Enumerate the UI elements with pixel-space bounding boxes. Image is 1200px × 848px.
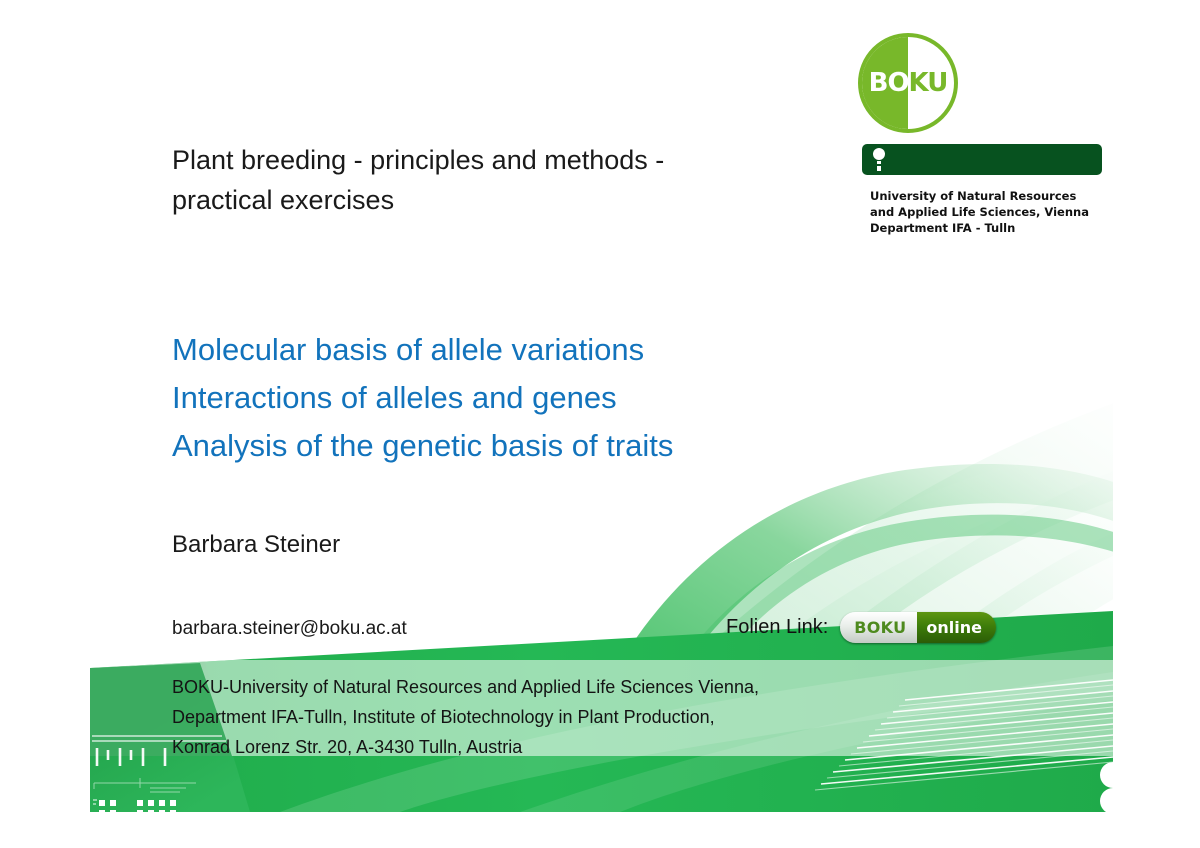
course-title-line-1: Plant breeding - principles and methods … bbox=[172, 140, 812, 180]
lecture-topic-3: Analysis of the genetic basis of traits bbox=[172, 422, 872, 470]
boku-logo-block: BOKU bbox=[858, 33, 1098, 133]
logo-wordmark-ku: KU bbox=[909, 70, 948, 96]
author-email[interactable]: barbara.steiner@boku.ac.at bbox=[172, 618, 407, 640]
boku-circle-logo-icon: BOKU bbox=[858, 33, 958, 133]
course-title: Plant breeding - principles and methods … bbox=[172, 140, 812, 220]
tree-trunk-gap-shape bbox=[877, 164, 881, 166]
university-name-block: University of Natural Resources and Appl… bbox=[870, 188, 1130, 236]
university-green-bar bbox=[862, 144, 1102, 175]
logo-wordmark: BOKU bbox=[858, 33, 958, 133]
tree-crown-shape bbox=[873, 148, 885, 160]
boku-online-button[interactable]: BOKU online bbox=[840, 612, 996, 643]
course-title-line-2: practical exercises bbox=[172, 180, 812, 220]
slide-title-full: Plant breeding - principles and methods … bbox=[0, 0, 1, 1]
presentation-title-slide: BOKU University of Natural Resources and… bbox=[0, 0, 1200, 848]
university-line-3: Department IFA - Tulln bbox=[870, 220, 1130, 236]
address-line-3: Konrad Lorenz Str. 20, A-3430 Tulln, Aus… bbox=[172, 732, 972, 762]
tree-trunk-shape bbox=[877, 161, 881, 171]
logo-wordmark-bo: BO bbox=[869, 70, 909, 96]
boku-online-button-right-label: online bbox=[917, 612, 996, 643]
lecture-topic-1: Molecular basis of allele variations bbox=[172, 326, 872, 374]
lecture-topics: Molecular basis of allele variations Int… bbox=[172, 326, 872, 470]
institution-address: BOKU-University of Natural Resources and… bbox=[172, 672, 972, 762]
lecture-topic-2: Interactions of alleles and genes bbox=[172, 374, 872, 422]
boku-online-button-left-label: BOKU bbox=[840, 612, 917, 643]
author-name: Barbara Steiner bbox=[172, 531, 340, 559]
slides-link-label: Folien Link: bbox=[726, 616, 828, 639]
address-line-2: Department IFA-Tulln, Institute of Biote… bbox=[172, 702, 972, 732]
slides-link-row: Folien Link: BOKU online bbox=[726, 612, 996, 643]
university-line-1: University of Natural Resources bbox=[870, 188, 1130, 204]
university-line-2: and Applied Life Sciences, Vienna bbox=[870, 204, 1130, 220]
address-line-1: BOKU-University of Natural Resources and… bbox=[172, 672, 972, 702]
tree-icon bbox=[872, 148, 886, 171]
